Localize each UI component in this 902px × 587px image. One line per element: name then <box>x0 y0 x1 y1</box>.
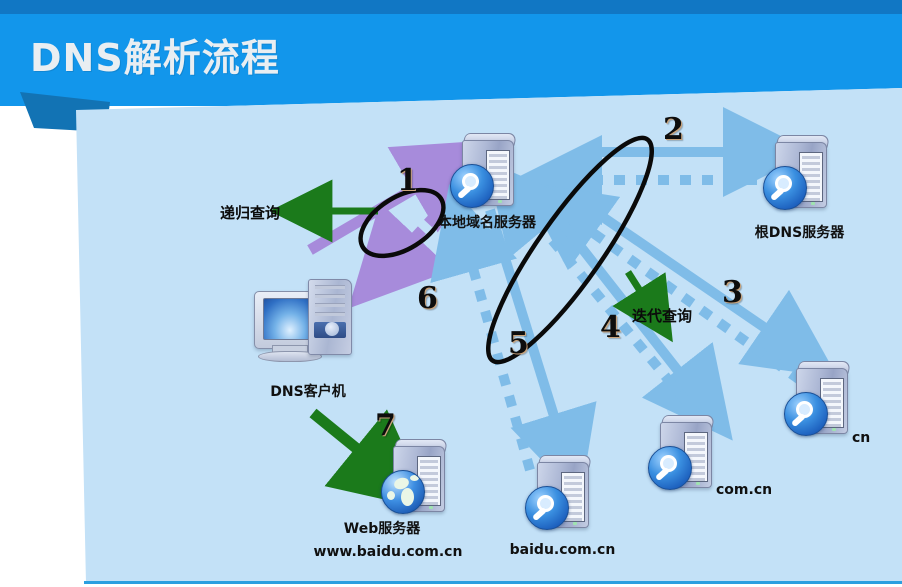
node-local-dns-server[interactable]: 本地域名服务器 <box>452 130 518 208</box>
step-number-5: 5 <box>508 326 529 361</box>
magnifier-icon <box>784 392 828 436</box>
node-label-cn-server: cn <box>852 430 902 446</box>
label-recursive-query: 递归查询 <box>220 202 280 223</box>
page-title: DNS解析流程 <box>30 27 280 82</box>
server-icon <box>527 452 593 530</box>
node-label-web-server: Web服务器 <box>307 518 457 538</box>
magnifier-icon <box>525 486 569 530</box>
step-number-4: 4 <box>600 310 621 345</box>
tower-icon <box>308 279 352 355</box>
node-web-server[interactable]: Web服务器 www.baidu.com.cn <box>383 436 449 514</box>
step-number-3: 3 <box>722 275 743 310</box>
node-label-local-dns-server: 本地域名服务器 <box>407 212 567 232</box>
server-icon <box>452 130 518 208</box>
globe-icon <box>381 470 425 514</box>
step-number-6: 6 <box>417 281 438 316</box>
node-label-comcn-server: com.cn <box>716 482 806 498</box>
server-icon <box>786 358 852 436</box>
label-iterative-query: 迭代查询 <box>632 305 692 326</box>
node-comcn-server[interactable]: com.cn <box>650 412 716 490</box>
server-icon <box>383 436 449 514</box>
server-icon <box>765 132 831 210</box>
node-label-baiducomcn-server: baidu.com.cn <box>500 542 625 558</box>
node-root-dns-server[interactable]: 根DNS服务器 <box>765 132 831 210</box>
step-number-7: 7 <box>375 408 396 443</box>
magnifier-icon <box>450 164 494 208</box>
node-baiducomcn-server[interactable]: baidu.com.cn <box>527 452 593 530</box>
step-number-1: 1 <box>397 163 418 198</box>
magnifier-icon <box>763 166 807 210</box>
server-icon <box>650 412 716 490</box>
magnifier-icon <box>648 446 692 490</box>
node-dns-client[interactable]: DNS客户机 <box>252 275 356 363</box>
step-number-2: 2 <box>663 112 684 147</box>
desktop-computer-icon <box>252 275 356 363</box>
node-label-root-dns-server: 根DNS服务器 <box>732 222 867 242</box>
slide-canvas: DNS解析流程 <box>0 0 902 587</box>
panel-underline <box>84 581 902 584</box>
node-label-dns-client: DNS客户机 <box>250 381 366 401</box>
node-cn-server[interactable]: cn <box>786 358 852 436</box>
node-sublabel-web-server: www.baidu.com.cn <box>263 544 513 560</box>
